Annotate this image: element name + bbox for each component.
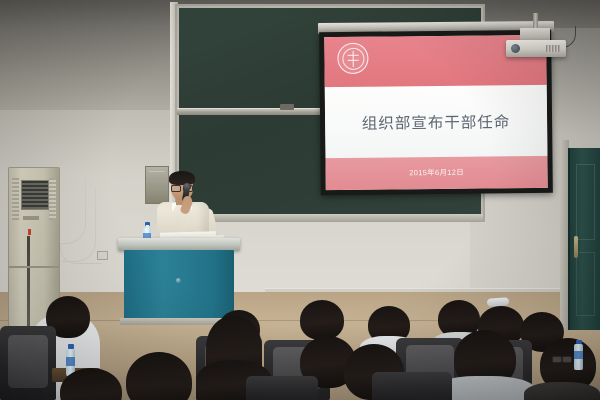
ac-intake-grille (21, 180, 49, 210)
university-seal-icon (337, 43, 368, 74)
projector-lens-icon (511, 44, 520, 53)
door-lower-panel (576, 252, 595, 316)
audience-head (300, 300, 344, 340)
ac-left-vent (12, 178, 19, 220)
audience-chair[interactable] (246, 376, 318, 400)
classroom-door[interactable] (568, 148, 600, 330)
water-bottle-right (574, 340, 583, 370)
presenter-left-hand (183, 196, 192, 205)
slide-date: 2015年6月12日 (409, 167, 464, 179)
audience-shoulders (524, 382, 600, 400)
wall-utility-box (145, 166, 169, 204)
ac-brand-badge (23, 216, 39, 220)
ac-panel-seam (9, 266, 59, 268)
chair-backrest-pad (8, 335, 48, 388)
podium-knob (176, 278, 181, 283)
door-upper-panel (576, 164, 595, 240)
ceiling-projector (506, 40, 566, 57)
audience-chair[interactable] (372, 372, 452, 400)
slide-title: 组织部宣布干部任命 (362, 110, 511, 134)
audience-eyeglasses (552, 356, 572, 361)
bottle-label (574, 351, 583, 359)
projector-vent (546, 45, 560, 52)
seal-tree-motif (352, 51, 354, 67)
presentation-slide: 组织部宣布干部任命 2015年6月12日 (324, 35, 548, 190)
door-handle[interactable] (574, 236, 578, 258)
podium-body (124, 250, 234, 322)
ac-power-led (28, 229, 31, 235)
slide-body: 组织部宣布干部任命 (325, 85, 548, 158)
photograph-scene: 组织部宣布干部任命 2015年6月12日 (0, 0, 600, 400)
slide-bottom-band: 2015年6月12日 (325, 156, 547, 190)
presenter-hair (169, 171, 195, 185)
ac-right-vent (49, 178, 56, 220)
chalkboard-rail-clip (280, 104, 294, 110)
wall-cable-3 (60, 244, 102, 264)
chalkboard-bottom-rail (177, 214, 483, 222)
bottle-label (66, 357, 75, 366)
audience-chair[interactable] (0, 326, 56, 400)
